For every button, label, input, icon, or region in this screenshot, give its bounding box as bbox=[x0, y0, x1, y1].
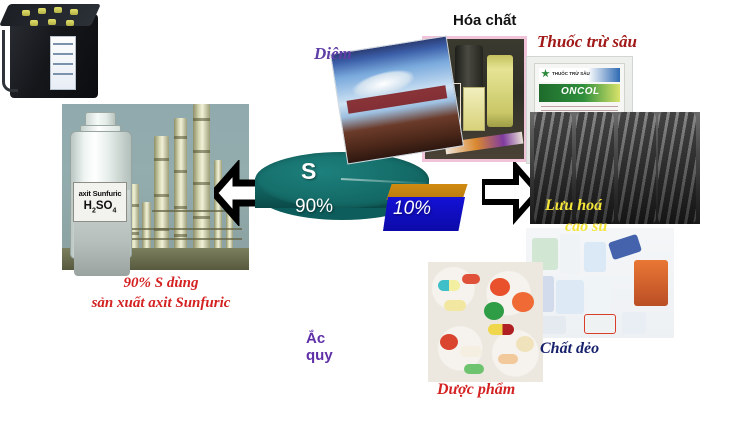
pill bbox=[444, 300, 466, 311]
bottle-label-name: axit Sunfuric bbox=[79, 190, 122, 198]
bottle-label-formula: H2SO4 bbox=[84, 200, 117, 215]
plant-caption-line-1: 90% S dùng bbox=[30, 273, 292, 293]
label-ac-quy-line-1: Ắc bbox=[306, 330, 333, 347]
label-luu-hoa-cao-su: Lưu hoá cao su bbox=[545, 196, 685, 238]
bottle-label: axit Sunfuric H2SO4 bbox=[73, 182, 127, 222]
label-duoc-pham: Dược phẩm bbox=[437, 381, 515, 399]
pill bbox=[484, 302, 504, 320]
plant-caption-line-2: sản xuất axit Sunfuric bbox=[30, 293, 292, 313]
battery-cable bbox=[2, 30, 18, 92]
plastic-item bbox=[560, 234, 580, 274]
pill bbox=[462, 274, 480, 284]
pie-major-percent-label: 90% bbox=[295, 196, 333, 218]
battery-cap bbox=[70, 9, 78, 15]
plastic-item bbox=[556, 280, 584, 314]
pesticide-header-text: THUỐC TRỪ SÂU bbox=[552, 71, 590, 76]
label-luu-hoa-line-1: Lưu hoá bbox=[545, 197, 602, 214]
sulfur-uses-diagram: axit Sunfuric H2SO4 90% S dùng sản xuất … bbox=[0, 0, 750, 421]
plastic-item bbox=[584, 242, 606, 272]
battery-cap bbox=[48, 19, 56, 25]
plastic-item bbox=[608, 234, 642, 260]
battery-cap bbox=[22, 10, 30, 16]
label-diem: Diêm bbox=[314, 44, 352, 64]
label-luu-hoa-line-2: cao su bbox=[545, 217, 685, 238]
pharmaceuticals-photo bbox=[428, 262, 543, 382]
plastic-item bbox=[622, 312, 646, 334]
pill bbox=[464, 364, 484, 374]
label-ac-quy-line-2: quy bbox=[306, 347, 333, 364]
pill bbox=[498, 354, 518, 364]
pill bbox=[512, 292, 534, 312]
plastic-item bbox=[588, 276, 610, 316]
label-thuoc-tru-sau: Thuốc trừ sâu bbox=[537, 32, 637, 52]
plastics-photo bbox=[526, 228, 674, 338]
formula-h: H bbox=[84, 200, 92, 212]
plant-caption: 90% S dùng sản xuất axit Sunfuric bbox=[30, 273, 292, 314]
label-chat-deo: Chất dẻo bbox=[540, 340, 599, 358]
sulfur-pie-chart: S 90% 10% bbox=[255, 152, 500, 244]
pie-minor-slice: 10% bbox=[383, 184, 471, 240]
pie-minor-percent-label: 10% bbox=[393, 198, 431, 220]
label-hoa-chat: Hóa chất bbox=[453, 12, 516, 29]
pesticide-product-name: ONCOL bbox=[561, 86, 600, 97]
battery-photo bbox=[0, 0, 104, 104]
label-ac-quy: Ắc quy bbox=[306, 330, 333, 365]
battery-cap bbox=[66, 20, 74, 26]
battery-label bbox=[50, 36, 76, 90]
pill bbox=[490, 278, 510, 296]
plastic-item bbox=[634, 260, 668, 306]
battery-cap bbox=[38, 8, 46, 14]
pill bbox=[460, 346, 482, 357]
chemical-yellow-box bbox=[463, 87, 485, 131]
battery-cap bbox=[30, 20, 38, 26]
pill bbox=[438, 280, 460, 291]
sulfuric-acid-bottle: axit Sunfuric H2SO4 bbox=[68, 112, 134, 260]
pill bbox=[516, 336, 534, 352]
pill bbox=[488, 324, 514, 335]
chemical-yellow-can bbox=[487, 55, 513, 127]
battery-cap bbox=[54, 7, 62, 13]
plastic-item bbox=[584, 314, 616, 334]
sulfur-symbol-label: S bbox=[301, 158, 316, 185]
formula-so: SO bbox=[96, 200, 113, 212]
pill bbox=[440, 334, 458, 350]
formula-sub-4: 4 bbox=[112, 207, 116, 214]
